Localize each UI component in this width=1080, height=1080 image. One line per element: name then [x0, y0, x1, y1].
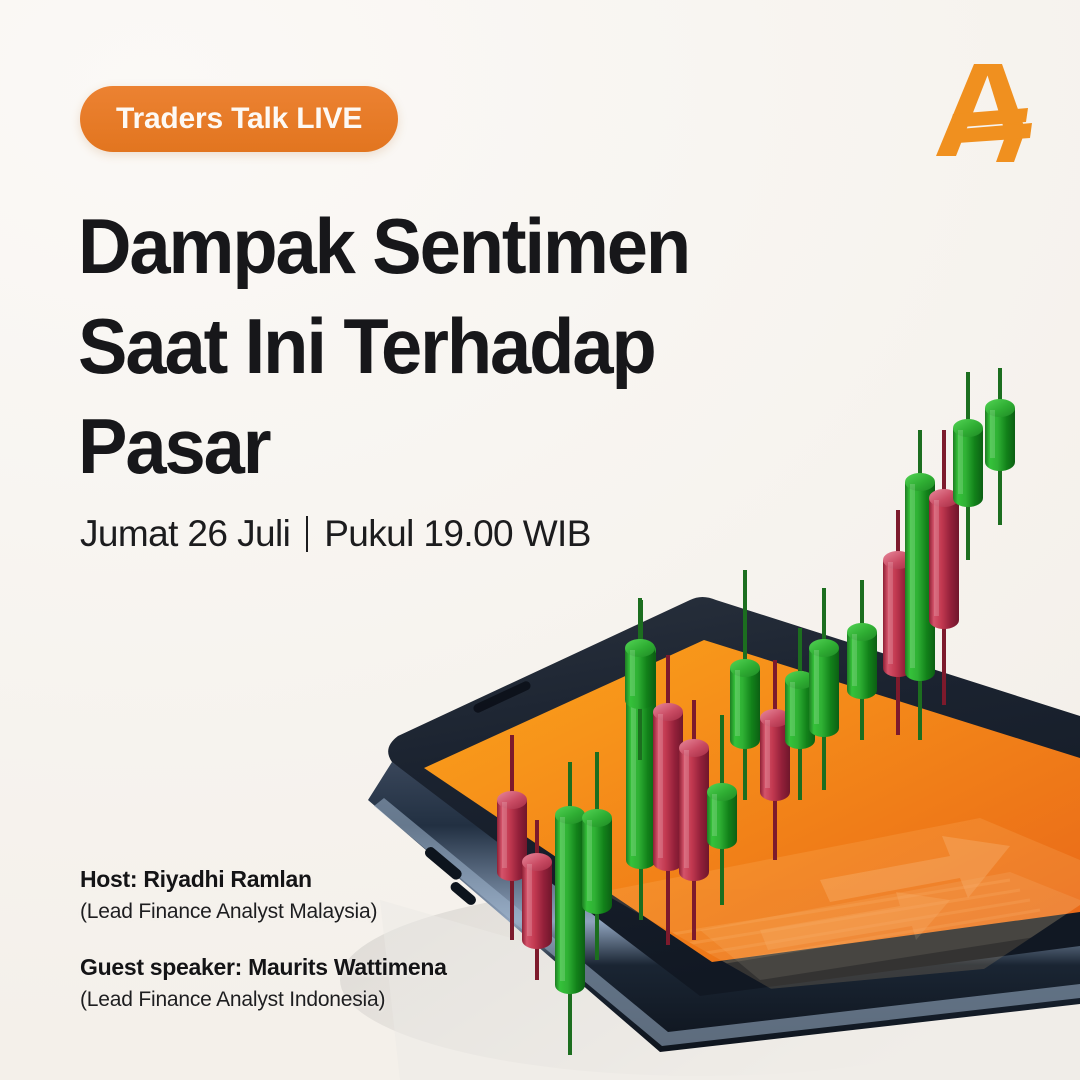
guest-role: (Lead Finance Analyst Indonesia) — [80, 988, 447, 1012]
live-badge: Traders Talk LIVE — [80, 86, 398, 152]
speaker-host: Host: Riyadhi Ramlan (Lead Finance Analy… — [80, 866, 447, 924]
live-badge-label: Traders Talk LIVE — [116, 102, 362, 136]
poster-canvas: Traders Talk LIVE Dampak Sentimen Saat I… — [0, 0, 1080, 1080]
angkasa-a-logo-icon — [922, 56, 1042, 164]
headline-line-3: Pasar — [78, 396, 800, 496]
speakers-block: Host: Riyadhi Ramlan (Lead Finance Analy… — [80, 866, 447, 1012]
event-time: Pukul 19.00 WIB — [324, 513, 591, 555]
headline-line-1: Dampak Sentimen — [78, 196, 800, 296]
event-datetime: Jumat 26 Juli Pukul 19.00 WIB — [80, 513, 591, 555]
host-role: (Lead Finance Analyst Malaysia) — [80, 900, 447, 924]
host-name: Host: Riyadhi Ramlan — [80, 866, 447, 893]
guest-name: Guest speaker: Maurits Wattimena — [80, 954, 447, 981]
event-date: Jumat 26 Juli — [80, 513, 290, 555]
speaker-guest: Guest speaker: Maurits Wattimena (Lead F… — [80, 954, 447, 1012]
page-title: Dampak Sentimen Saat Ini Terhadap Pasar — [78, 196, 800, 496]
brand-logo — [922, 56, 1042, 164]
candlestick — [985, 368, 1015, 525]
headline-line-2: Saat Ini Terhadap — [78, 296, 800, 396]
datetime-separator — [306, 516, 308, 552]
